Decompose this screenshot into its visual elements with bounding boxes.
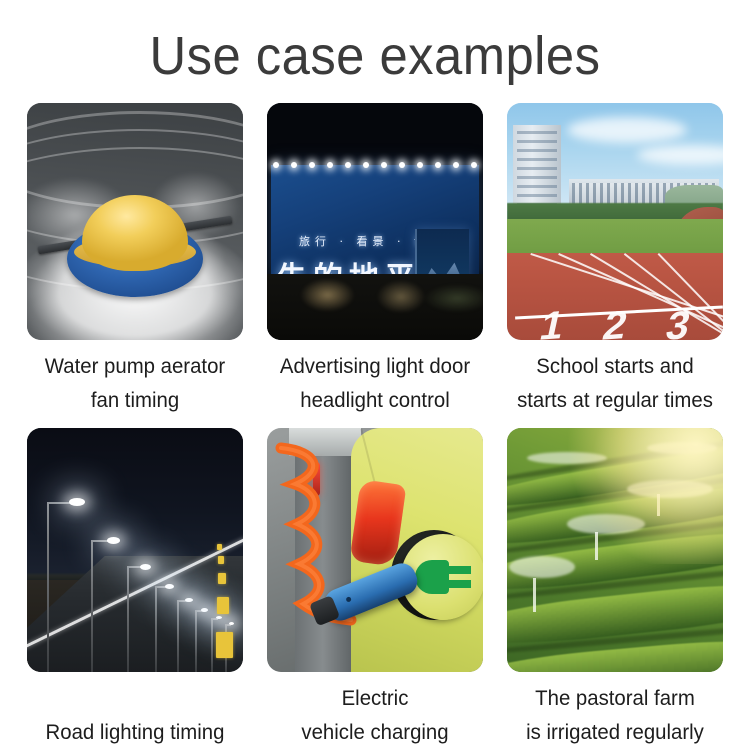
street-lamp-icon (140, 564, 151, 570)
street-light-pole (155, 586, 157, 672)
billboard-lamp-icon (327, 162, 333, 168)
road-center-dash (218, 556, 224, 564)
road-center-dash (218, 573, 226, 584)
billboard-lamp-icon (399, 162, 405, 168)
caption-line: starts at regular times (510, 384, 720, 418)
street-light-pole (195, 610, 197, 672)
electric-vehicle-charging-image (267, 428, 483, 672)
road-center-dash (216, 632, 233, 658)
ground-light-glow (267, 278, 483, 312)
caption-line: fan timing (30, 384, 240, 418)
foreground-ground (267, 274, 483, 340)
road-center-dash (217, 544, 222, 550)
card-caption: The pastoral farm is irrigated regularly (507, 682, 723, 750)
street-lamp-icon (69, 498, 85, 506)
water-pump-aerator-image (27, 103, 243, 340)
caption-line: Water pump aerator (30, 350, 240, 384)
street-lamp-icon (201, 608, 208, 612)
caption-line: headlight control (270, 384, 480, 418)
street-lamp-icon (229, 622, 234, 625)
use-case-card-advertising-light[interactable]: 旅行 · 看景 · 读书 失的地平线 云南人民出版社 LOST HORIZON (267, 103, 483, 418)
caption-line: School starts and (510, 350, 720, 384)
billboard-lamp-icon (381, 162, 387, 168)
card-caption: School starts and starts at regular time… (507, 350, 723, 418)
use-case-card-road-lighting[interactable]: Road lighting timing (27, 428, 243, 750)
road-center-dash (217, 597, 229, 614)
advertising-light-image: 旅行 · 看景 · 读书 失的地平线 云南人民出版社 LOST HORIZON (267, 103, 483, 340)
card-caption: Advertising light door headlight control (267, 350, 483, 418)
road-lighting-image (27, 428, 243, 672)
billboard-lamp-icon (435, 162, 441, 168)
billboard-light-row (273, 159, 477, 171)
school-track-image: 1 2 3 (507, 103, 723, 340)
card-caption: Electric vehicle charging (267, 682, 483, 750)
billboard-lamp-icon (291, 162, 297, 168)
lane-numbers: 1 2 3 (507, 306, 723, 340)
use-case-card-electric-vehicle-charging[interactable]: Electric vehicle charging (267, 428, 483, 750)
street-lamp-icon (216, 616, 222, 619)
caption-line: is irrigated regularly (510, 716, 720, 750)
card-caption: Road lighting timing (27, 716, 243, 750)
street-light-pole (127, 566, 129, 672)
street-lamp-icon (185, 598, 193, 602)
card-caption: Water pump aerator fan timing (27, 350, 243, 418)
billboard-lamp-icon (273, 162, 279, 168)
street-light-pole (47, 502, 49, 672)
use-case-card-school-track[interactable]: 1 2 3 School starts and starts at regula… (507, 103, 723, 418)
caption-line: The pastoral farm (510, 682, 720, 716)
billboard-panel: 旅行 · 看景 · 读书 失的地平线 云南人民出版社 LOST HORIZON (271, 165, 479, 277)
warm-haze (507, 428, 723, 672)
billboard-lamp-icon (471, 162, 477, 168)
billboard-lamp-icon (363, 162, 369, 168)
lane-number: 2 (599, 305, 630, 340)
billboard-lamp-icon (417, 162, 423, 168)
page-title: Use case examples (23, 26, 728, 86)
caption-line: vehicle charging (270, 716, 480, 750)
caption-line: Electric (270, 682, 480, 716)
street-lamp-icon (165, 584, 174, 589)
street-light-pole (91, 540, 93, 672)
use-case-card-pastoral-farm[interactable]: The pastoral farm is irrigated regularly (507, 428, 723, 750)
billboard-lamp-icon (309, 162, 315, 168)
street-lamp-icon (107, 537, 120, 544)
street-light-pole (177, 600, 179, 672)
use-case-examples-page: Use case examples Water pump aerator fan… (0, 0, 750, 750)
pastoral-farm-image (507, 428, 723, 672)
street-light-pole (211, 618, 213, 672)
caption-line: Advertising light door (270, 350, 480, 384)
use-case-grid: Water pump aerator fan timing 旅行 · 看景 · … (27, 103, 723, 743)
charging-plug-icon (415, 560, 473, 594)
billboard-lamp-icon (453, 162, 459, 168)
lane-number: 1 (537, 305, 568, 340)
caption-line: Road lighting timing (30, 716, 240, 750)
lane-number: 3 (662, 305, 693, 340)
use-case-card-water-pump-aerator[interactable]: Water pump aerator fan timing (27, 103, 243, 418)
billboard-lamp-icon (345, 162, 351, 168)
cloud (567, 117, 687, 143)
